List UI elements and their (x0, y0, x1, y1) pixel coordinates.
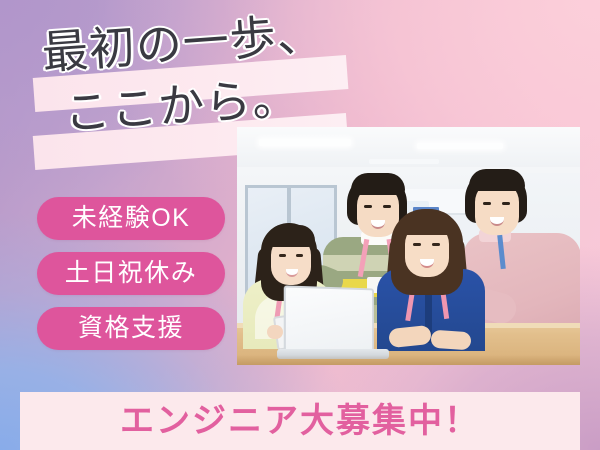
person-eye (483, 202, 491, 205)
badge-no-experience[interactable]: 未経験OK (37, 197, 225, 240)
team-photo (237, 127, 580, 365)
person-eye (364, 205, 372, 208)
person-hand (267, 325, 283, 339)
recruiting-banner-text: エンジニア大募集中！ (120, 404, 480, 438)
badge-label: 資格支援 (78, 316, 184, 341)
recruiting-banner[interactable]: エンジニア大募集中！ (20, 392, 580, 450)
person-eye (502, 202, 510, 205)
person-hair-fringe (399, 211, 455, 235)
recruitment-poster: 最初の一歩、 ここから。 未経験OK 土日祝休み 資格支援 エンジニア大募集中！ (0, 0, 600, 450)
person-eye (413, 243, 421, 246)
laptop-screen (284, 285, 374, 354)
person-eye (279, 254, 286, 257)
badge-label: 土日祝休み (65, 261, 198, 286)
person-eye (296, 254, 303, 257)
person-hair-fringe (351, 173, 405, 195)
photo-desk-shadow (237, 355, 580, 365)
feature-badge-list: 未経験OK 土日祝休み 資格支援 (37, 197, 225, 362)
person-hand (430, 330, 471, 351)
person-hair-fringe (267, 225, 315, 247)
ceiling-light-icon (369, 159, 439, 164)
person-eye (432, 243, 440, 246)
badge-qualification-support[interactable]: 資格支援 (37, 307, 225, 350)
ceiling-light-icon (259, 139, 351, 146)
person-hair-fringe (469, 169, 525, 191)
ceiling-light-icon (417, 143, 503, 149)
badge-weekends-holidays-off[interactable]: 土日祝休み (37, 252, 225, 295)
person-eye (383, 205, 391, 208)
badge-label: 未経験OK (72, 206, 191, 231)
